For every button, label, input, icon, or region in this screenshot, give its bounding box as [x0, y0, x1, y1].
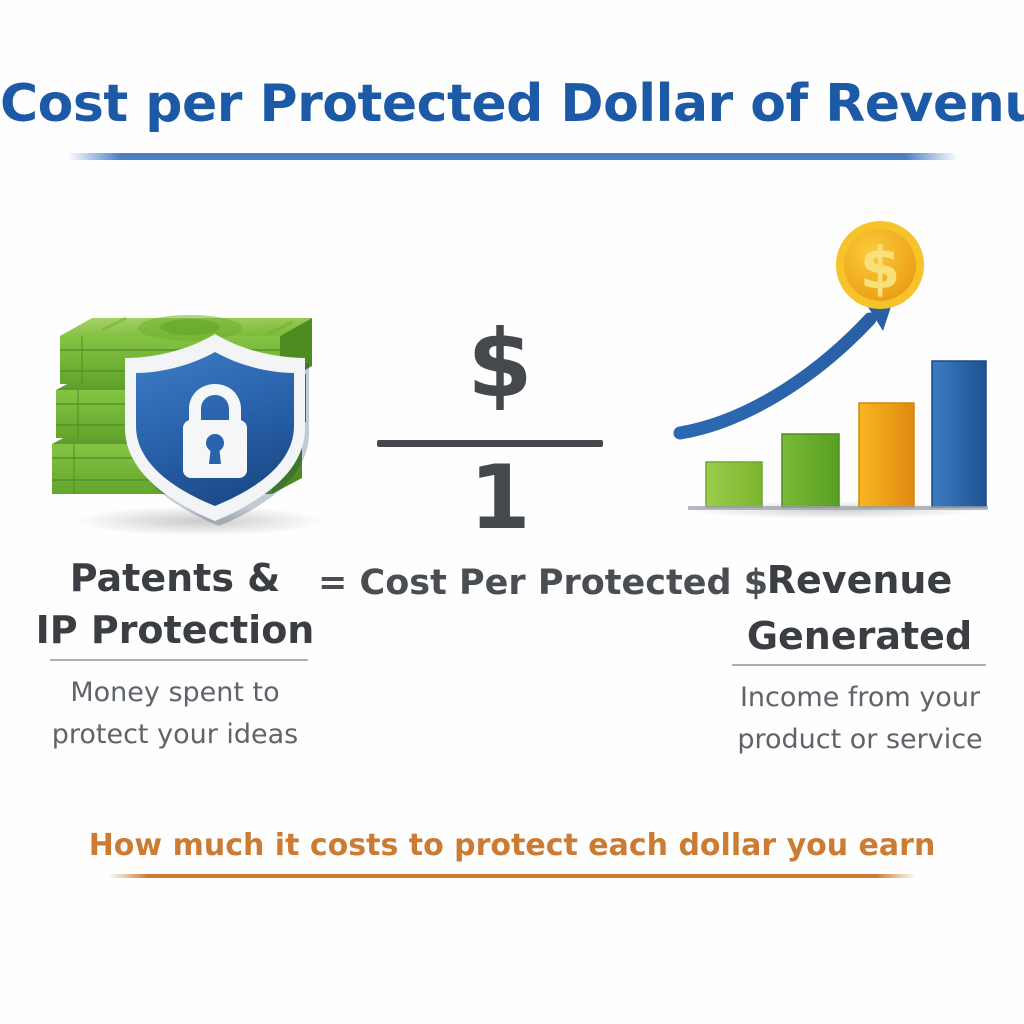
page-title: Cost per Protected Dollar of Revenue [0, 74, 1024, 134]
left-term-label-line1: Patents & [30, 552, 320, 604]
right-term-label: Revenue Generated [722, 552, 997, 664]
left-term-label-line2: IP Protection [30, 604, 320, 656]
left-caption-line1: Money spent to [30, 672, 320, 714]
left-caption-line2: protect your ideas [30, 714, 320, 756]
right-term-label-line2: Generated [722, 608, 997, 664]
left-term-label: Patents & IP Protection [30, 552, 320, 656]
title-underline [68, 153, 958, 160]
right-divider [732, 664, 986, 666]
equals-result-label: = Cost Per Protected $ [318, 563, 748, 603]
growth-bar-chart-arrow-coin-icon: $ [670, 215, 990, 540]
coin-dollar-symbol: $ [860, 234, 900, 302]
left-divider [50, 659, 308, 661]
right-caption: Income from your product or service [712, 677, 1008, 761]
footer-underline [108, 874, 916, 878]
fraction-numerator: $ [370, 315, 630, 415]
left-caption: Money spent to protect your ideas [30, 672, 320, 756]
footer-tagline: How much it costs to protect each dollar… [0, 828, 1024, 863]
right-caption-line2: product or service [712, 719, 1008, 761]
money-stack-shield-lock-icon [40, 278, 340, 540]
right-caption-line1: Income from your [712, 677, 1008, 719]
fraction-denominator: 1 [370, 450, 630, 545]
fraction-block: $ 1 [370, 315, 630, 535]
infographic-canvas: Cost per Protected Dollar of Revenue [0, 0, 1024, 1024]
right-term-label-line1: Revenue [722, 552, 997, 608]
